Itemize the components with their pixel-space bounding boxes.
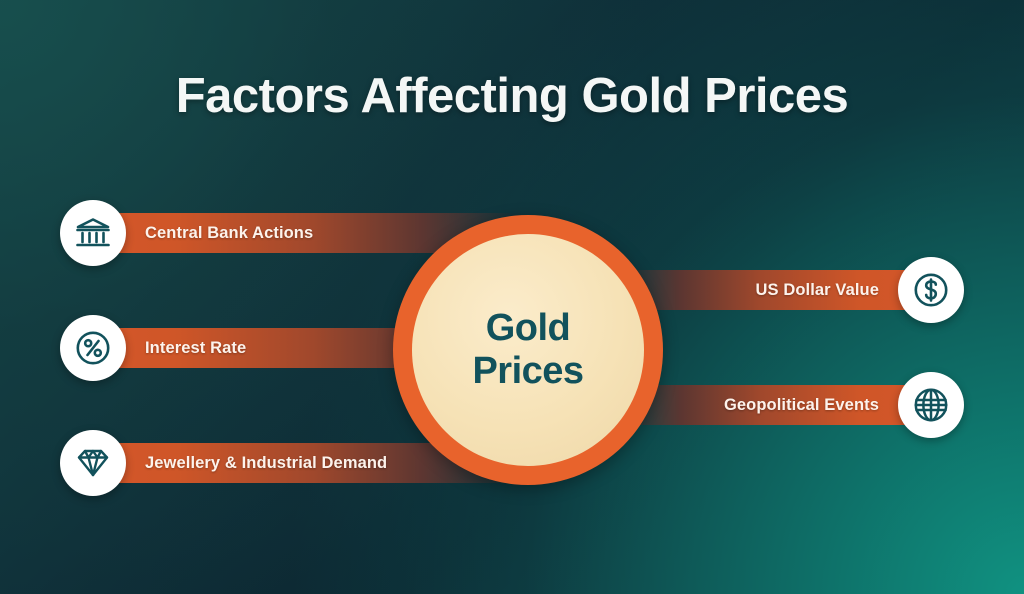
infographic-canvas: Factors Affecting Gold Prices Central Ba… <box>0 0 1024 594</box>
diamond-icon <box>74 444 112 482</box>
diamond-icon-bubble[interactable] <box>60 430 126 496</box>
center-node-inner: Gold Prices <box>412 234 644 466</box>
dollar-coin-icon-bubble[interactable] <box>898 257 964 323</box>
percent-icon-bubble[interactable] <box>60 315 126 381</box>
factor-label: Jewellery & Industrial Demand <box>92 454 387 473</box>
percent-icon <box>74 329 112 367</box>
bank-icon <box>74 214 112 252</box>
bank-icon-bubble[interactable] <box>60 200 126 266</box>
globe-icon-bubble[interactable] <box>898 372 964 438</box>
globe-icon <box>912 386 950 424</box>
page-title: Factors Affecting Gold Prices <box>0 68 1024 124</box>
dollar-coin-icon <box>912 271 950 309</box>
center-node-gold-prices: Gold Prices <box>393 215 663 485</box>
center-title-line-2: Prices <box>472 350 583 393</box>
center-title-line-1: Gold <box>486 307 571 350</box>
